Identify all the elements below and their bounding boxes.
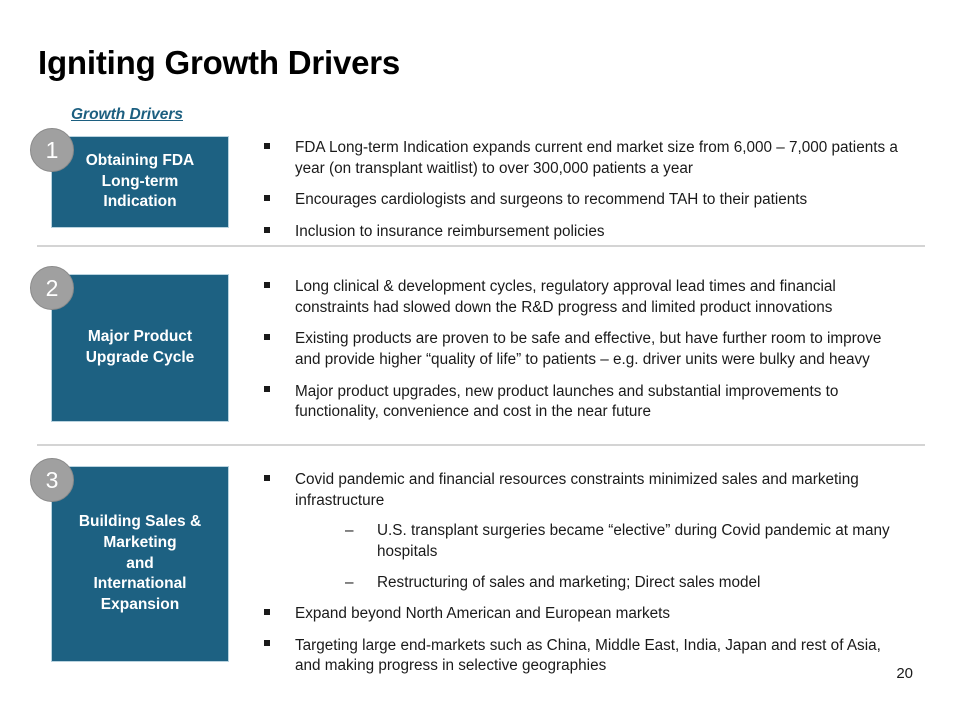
bullet-list-3: Covid pandemic and financial resources c… xyxy=(262,470,910,677)
step-box-1-line: Obtaining FDA xyxy=(86,151,195,172)
bullet-text: Encourages cardiologists and surgeons to… xyxy=(295,190,910,211)
bullet-item: Major product upgrades, new product laun… xyxy=(262,382,910,423)
dash-bullet-icon: – xyxy=(345,521,354,542)
square-bullet-icon xyxy=(264,609,270,615)
bullet-item: Long clinical & development cycles, regu… xyxy=(262,277,910,318)
sub-bullet-text: Restructuring of sales and marketing; Di… xyxy=(377,573,910,594)
bullet-item: Targeting large end-markets such as Chin… xyxy=(262,636,910,677)
sub-bullet-item: – U.S. transplant surgeries became “elec… xyxy=(295,521,910,562)
section-label: Growth Drivers xyxy=(71,106,183,124)
bullet-text: Major product upgrades, new product laun… xyxy=(295,382,910,423)
bullet-item: Inclusion to insurance reimbursement pol… xyxy=(262,222,910,243)
step-number-badge-1: 1 xyxy=(30,128,74,172)
step-box-3-line: and xyxy=(79,554,201,575)
step-box-2: Major Product Upgrade Cycle xyxy=(51,274,229,422)
bullet-text: Inclusion to insurance reimbursement pol… xyxy=(295,222,910,243)
square-bullet-icon xyxy=(264,143,270,149)
bullet-text: FDA Long-term Indication expands current… xyxy=(295,138,910,179)
step-box-1-line: Indication xyxy=(86,192,195,213)
square-bullet-icon xyxy=(264,640,270,646)
bullet-text: Covid pandemic and financial resources c… xyxy=(295,470,910,511)
section-divider xyxy=(37,444,925,446)
square-bullet-icon xyxy=(264,475,270,481)
square-bullet-icon xyxy=(264,334,270,340)
slide-canvas: Igniting Growth Drivers Growth Drivers O… xyxy=(0,0,960,720)
step-box-3: Building Sales & Marketing and Internati… xyxy=(51,466,229,662)
bullet-list-1: FDA Long-term Indication expands current… xyxy=(262,138,910,243)
step-number-badge-3: 3 xyxy=(30,458,74,502)
bullet-text: Expand beyond North American and Europea… xyxy=(295,604,910,625)
bullet-text: Long clinical & development cycles, regu… xyxy=(295,277,910,318)
step-box-2-label: Major Product Upgrade Cycle xyxy=(86,327,195,369)
dash-bullet-icon: – xyxy=(345,573,354,594)
square-bullet-icon xyxy=(264,227,270,233)
page-number: 20 xyxy=(896,665,913,682)
step-box-2-line: Upgrade Cycle xyxy=(86,348,195,369)
bullet-item: Existing products are proven to be safe … xyxy=(262,329,910,370)
step-box-1-line: Long-term xyxy=(86,172,195,193)
sub-bullet-item: – Restructuring of sales and marketing; … xyxy=(295,573,910,594)
step-number-badge-2: 2 xyxy=(30,266,74,310)
bullet-list-2: Long clinical & development cycles, regu… xyxy=(262,277,910,423)
bullet-item: FDA Long-term Indication expands current… xyxy=(262,138,910,179)
sub-bullet-text: U.S. transplant surgeries became “electi… xyxy=(377,521,910,562)
step-box-3-line: International xyxy=(79,574,201,595)
square-bullet-icon xyxy=(264,386,270,392)
section-divider xyxy=(37,245,925,247)
square-bullet-icon xyxy=(264,282,270,288)
step-box-1: Obtaining FDA Long-term Indication xyxy=(51,136,229,228)
square-bullet-icon xyxy=(264,195,270,201)
step-box-3-label: Building Sales & Marketing and Internati… xyxy=(79,512,201,617)
bullet-text: Existing products are proven to be safe … xyxy=(295,329,910,370)
step-box-1-label: Obtaining FDA Long-term Indication xyxy=(86,151,195,214)
bullet-item: Encourages cardiologists and surgeons to… xyxy=(262,190,910,211)
step-box-3-line: Expansion xyxy=(79,595,201,616)
sub-bullet-list: – U.S. transplant surgeries became “elec… xyxy=(295,521,910,593)
bullet-item: Covid pandemic and financial resources c… xyxy=(262,470,910,593)
bullet-item: Expand beyond North American and Europea… xyxy=(262,604,910,625)
step-box-3-line: Building Sales & xyxy=(79,512,201,533)
step-box-3-line: Marketing xyxy=(79,533,201,554)
bullet-text: Targeting large end-markets such as Chin… xyxy=(295,636,910,677)
page-title: Igniting Growth Drivers xyxy=(38,44,400,82)
step-box-2-line: Major Product xyxy=(86,327,195,348)
